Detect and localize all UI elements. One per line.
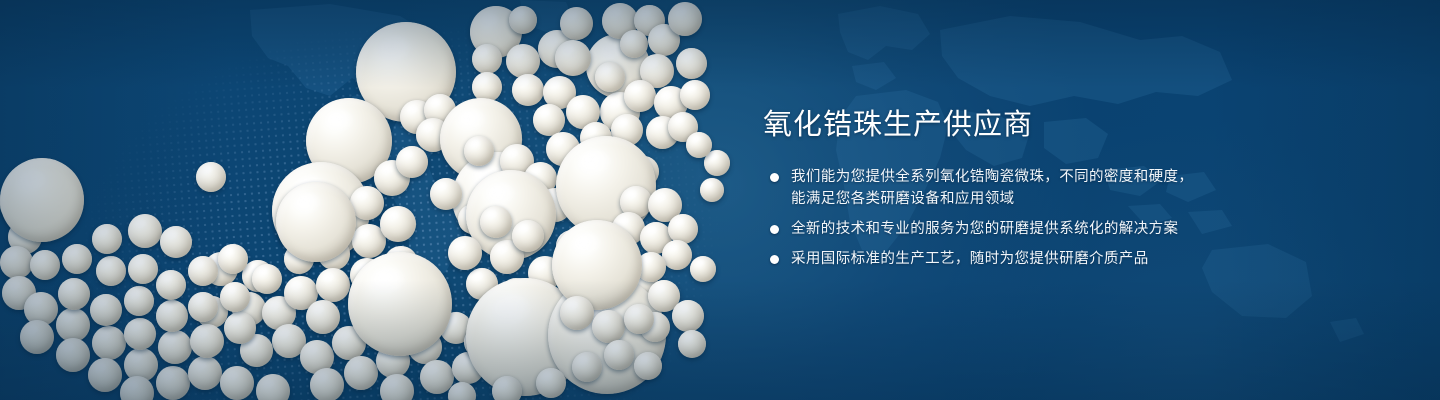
feature-bullet-line: 采用国际标准的生产工艺，随时为您提供研磨介质产品	[791, 248, 1323, 270]
feature-bullet-item: 采用国际标准的生产工艺，随时为您提供研磨介质产品	[763, 248, 1323, 270]
feature-bullet-line: 能满足您各类研磨设备和应用领域	[791, 188, 1323, 210]
bullet-dot-icon	[770, 255, 779, 264]
feature-bullet-item: 全新的技术和专业的服务为您的研磨提供系统化的解决方案	[763, 218, 1323, 240]
feature-bullet-line: 全新的技术和专业的服务为您的研磨提供系统化的解决方案	[791, 218, 1323, 240]
page-title: 氧化锆珠生产供应商	[763, 104, 1323, 144]
hero-banner: 氧化锆珠生产供应商 我们能为您提供全系列氧化锆陶瓷微珠，不同的密度和硬度，能满足…	[0, 0, 1440, 400]
feature-bullet-item: 我们能为您提供全系列氧化锆陶瓷微珠，不同的密度和硬度，能满足您各类研磨设备和应用…	[763, 166, 1323, 210]
bullet-dot-icon	[770, 225, 779, 234]
banner-copy: 氧化锆珠生产供应商 我们能为您提供全系列氧化锆陶瓷微珠，不同的密度和硬度，能满足…	[763, 104, 1323, 270]
feature-bullet-list: 我们能为您提供全系列氧化锆陶瓷微珠，不同的密度和硬度，能满足您各类研磨设备和应用…	[763, 166, 1323, 270]
feature-bullet-line: 我们能为您提供全系列氧化锆陶瓷微珠，不同的密度和硬度，	[791, 166, 1323, 188]
bullet-dot-icon	[770, 173, 779, 182]
